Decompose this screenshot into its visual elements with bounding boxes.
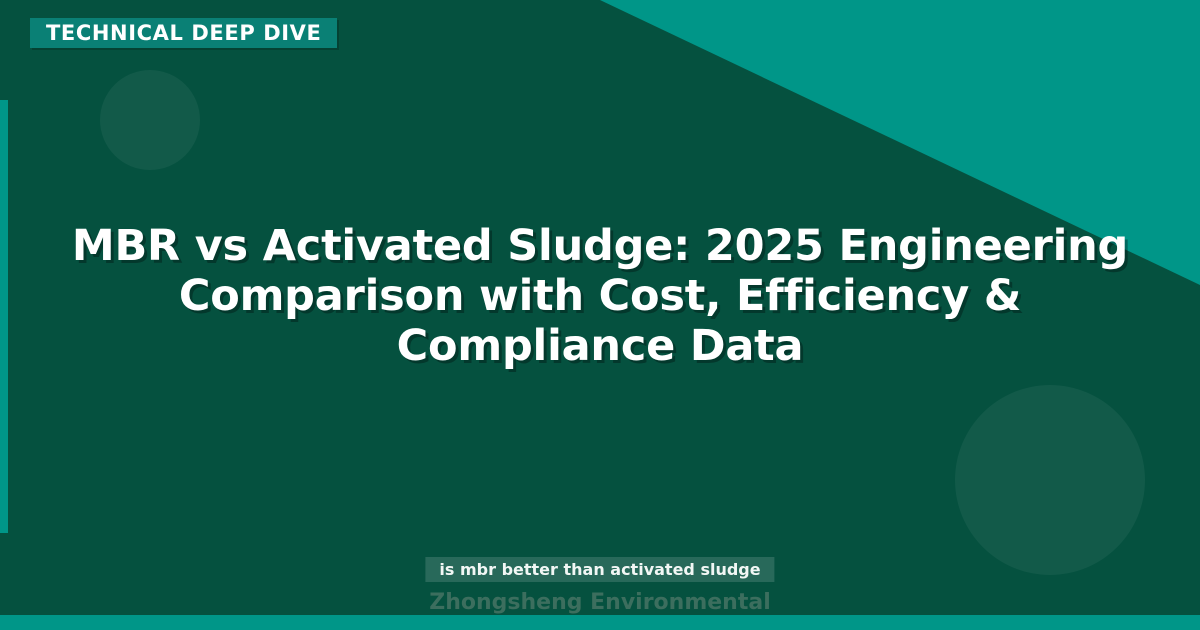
- bottom-accent-bar: [0, 615, 1200, 630]
- headline-container: MBR vs Activated Sludge: 2025 Engineerin…: [70, 222, 1130, 372]
- page-title: MBR vs Activated Sludge: 2025 Engineerin…: [70, 222, 1130, 372]
- eyebrow-badge: TECHNICAL DEEP DIVE: [30, 18, 337, 48]
- keyword-badge-label: is mbr better than activated sludge: [439, 562, 760, 578]
- eyebrow-badge-label: TECHNICAL DEEP DIVE: [46, 23, 321, 44]
- brand-name: Zhongsheng Environmental: [0, 590, 1200, 616]
- decorative-circle-bottom-right: [955, 385, 1145, 575]
- og-card: TECHNICAL DEEP DIVE MBR vs Activated Slu…: [0, 0, 1200, 630]
- left-accent-bar: [0, 100, 8, 533]
- keyword-badge: is mbr better than activated sludge: [425, 557, 774, 582]
- decorative-circle-top-left: [100, 70, 200, 170]
